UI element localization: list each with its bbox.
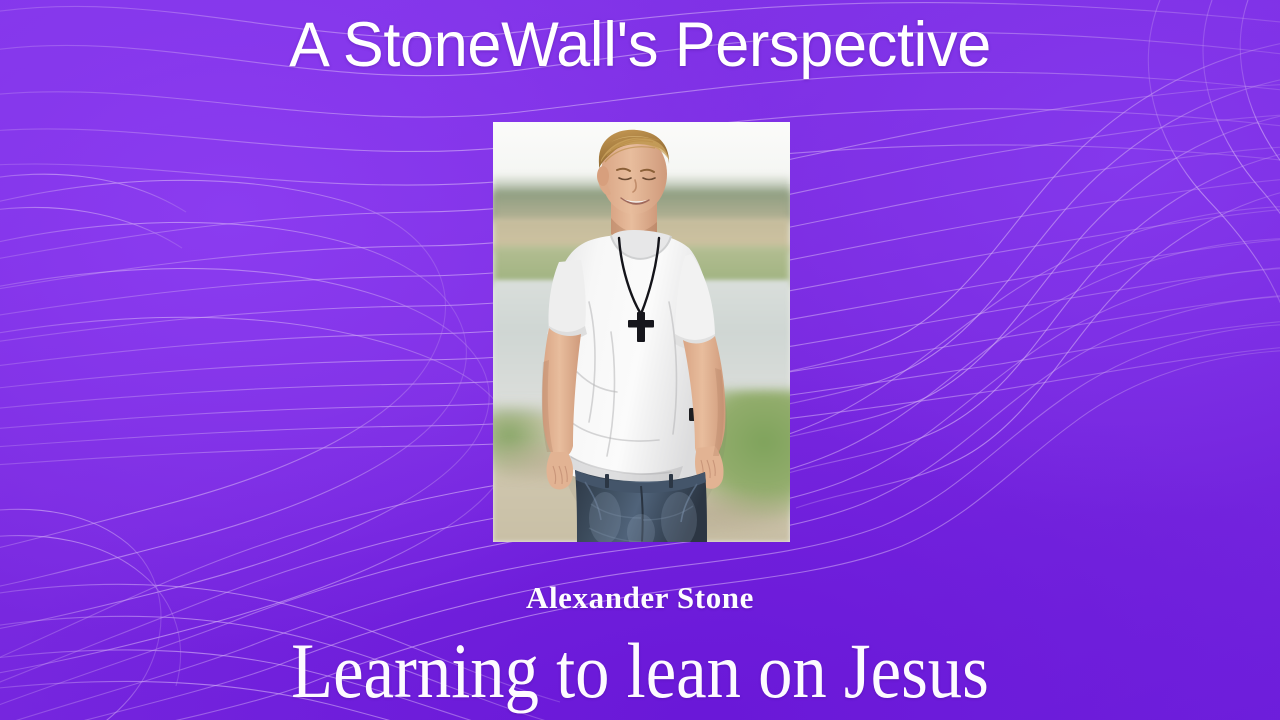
photo-subject bbox=[493, 122, 790, 542]
slide-subtitle: Learning to lean on Jesus bbox=[77, 632, 1203, 710]
presentation-slide: A StoneWall's Perspective bbox=[0, 0, 1280, 720]
presenter-photo bbox=[493, 122, 790, 542]
presenter-name: Alexander Stone bbox=[0, 580, 1280, 616]
slide-title: A StoneWall's Perspective bbox=[19, 14, 1261, 77]
